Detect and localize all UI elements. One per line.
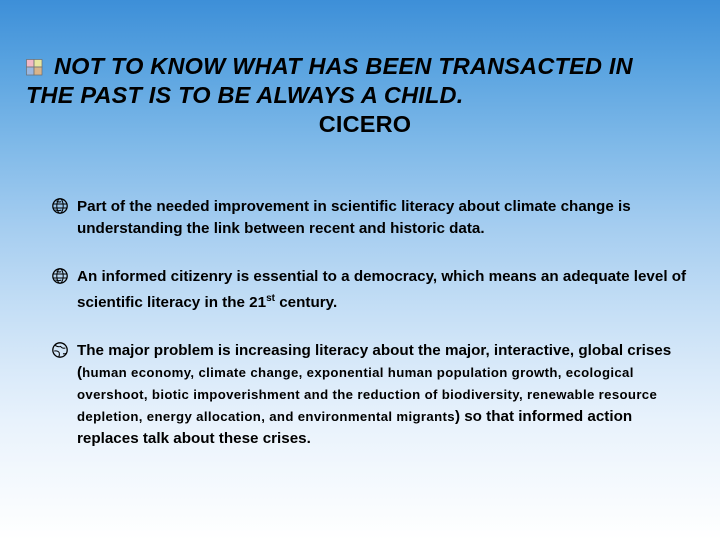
list-item-text: The major problem is increasing literacy… [77,340,692,450]
list-item-text: Part of the needed improvement in scient… [77,196,692,240]
slide-canvas: NOT TO KNOW WHAT HAS BEEN TRANSACTED IN … [0,0,720,540]
globe-icon [52,268,68,284]
list-item: Part of the needed improvement in scient… [52,196,692,240]
title-line-1: NOT TO KNOW WHAT HAS BEEN TRANSACTED IN [26,52,694,81]
list-item-text-after: century. [275,294,337,311]
ordinal-suffix: st [266,293,275,304]
slide-title-block: NOT TO KNOW WHAT HAS BEEN TRANSACTED IN … [26,52,694,139]
list-item-text-before: An informed citizenry is essential to a … [77,268,686,311]
list-item: An informed citizenry is essential to a … [52,266,692,314]
globe-icon [52,342,68,358]
list-item-text: An informed citizenry is essential to a … [77,266,692,314]
slide-body-block: Part of the needed improvement in scient… [52,196,692,476]
title-line-1-text: NOT TO KNOW WHAT HAS BEEN TRANSACTED IN [54,53,633,79]
list-item: The major problem is increasing literacy… [52,340,692,450]
title-line-2: THE PAST IS TO BE ALWAYS A CHILD. [26,81,694,110]
globe-icon [26,54,43,71]
title-attribution: CICERO [26,110,694,139]
globe-icon [52,198,68,214]
